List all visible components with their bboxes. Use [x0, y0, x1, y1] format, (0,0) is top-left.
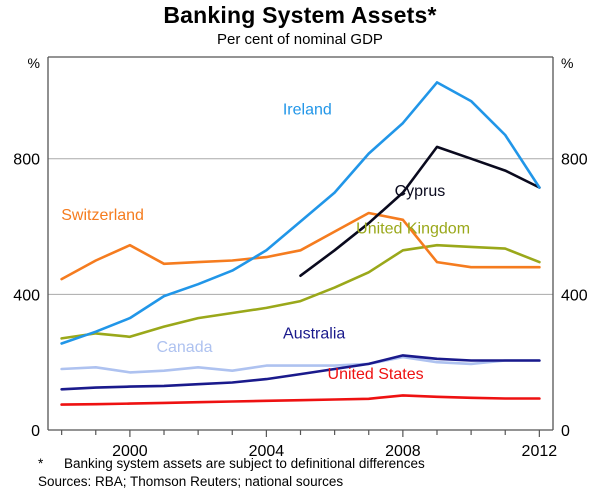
y-unit-right: % [561, 55, 573, 71]
series-label-ireland: Ireland [283, 102, 332, 119]
series-label-switzerland: Switzerland [61, 207, 144, 224]
y-tick-label-right-800: 800 [561, 152, 588, 169]
series-line-united-states [62, 395, 540, 404]
y-tick-label-right-0: 0 [561, 423, 570, 440]
y-tick-label-left-400: 400 [13, 287, 40, 304]
series-line-cyprus [301, 147, 540, 276]
sources-line: Sources: RBA; Thomson Reuters; national … [0, 473, 600, 490]
series-label-united-states: United States [328, 366, 424, 383]
series-label-canada: Canada [156, 339, 212, 356]
series-line-united-kingdom [62, 245, 540, 338]
footnote: * Banking system assets are subject to d… [0, 455, 600, 472]
series-label-cyprus: Cyprus [395, 183, 446, 200]
chart-footer: * Banking system assets are subject to d… [0, 455, 600, 490]
series-label-australia: Australia [283, 325, 345, 342]
y-tick-label-right-400: 400 [561, 287, 588, 304]
chart-page: Banking System Assets* Per cent of nomin… [0, 0, 600, 504]
footnote-marker: * [38, 455, 43, 472]
y-tick-label-left-0: 0 [31, 423, 40, 440]
y-tick-label-left-800: 800 [13, 152, 40, 169]
footnote-text: Banking system assets are subject to def… [38, 455, 600, 472]
y-unit-left: % [28, 55, 40, 71]
series-label-united-kingdom: United Kingdom [356, 220, 470, 237]
line-chart: 200020042008201200400400800800%%IrelandC… [0, 0, 600, 504]
